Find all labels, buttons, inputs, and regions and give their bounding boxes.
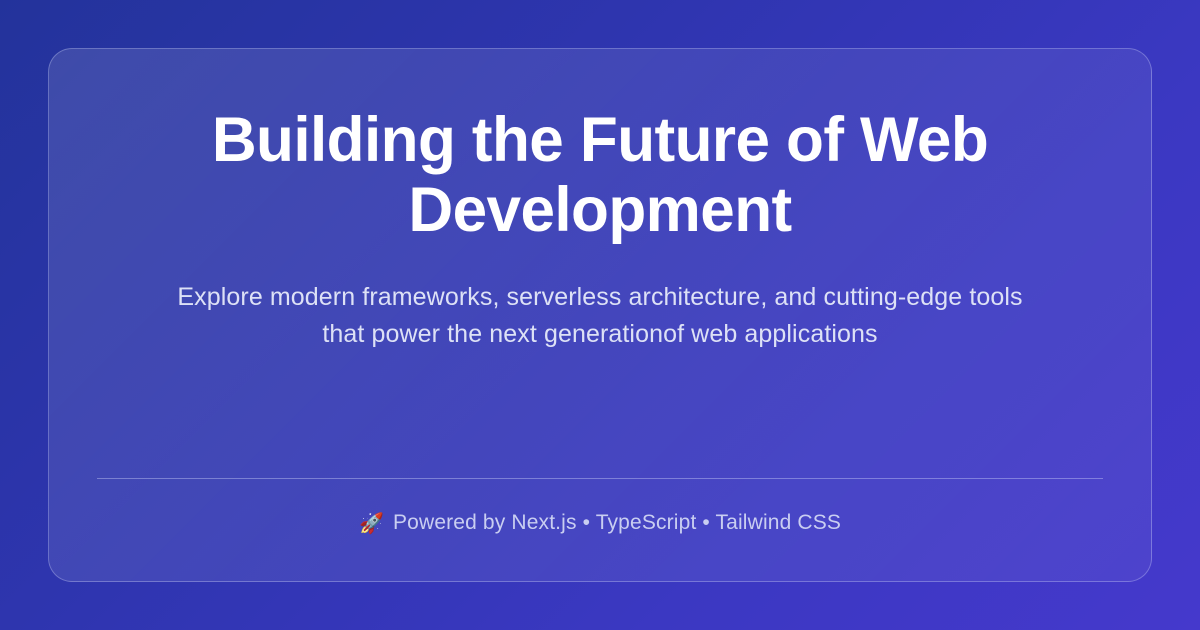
footer: 🚀 Powered by Next.js • TypeScript • Tail… [359, 511, 841, 535]
page-subtitle: Explore modern frameworks, serverless ar… [165, 279, 1035, 353]
footer-divider [97, 478, 1103, 479]
footer-tech-stack-label: Powered by Next.js • TypeScript • Tailwi… [393, 511, 841, 535]
page-title: Building the Future of Web Development [167, 105, 1034, 245]
rocket-icon: 🚀 [359, 514, 384, 534]
og-image-card: Building the Future of Web Development E… [48, 48, 1152, 582]
